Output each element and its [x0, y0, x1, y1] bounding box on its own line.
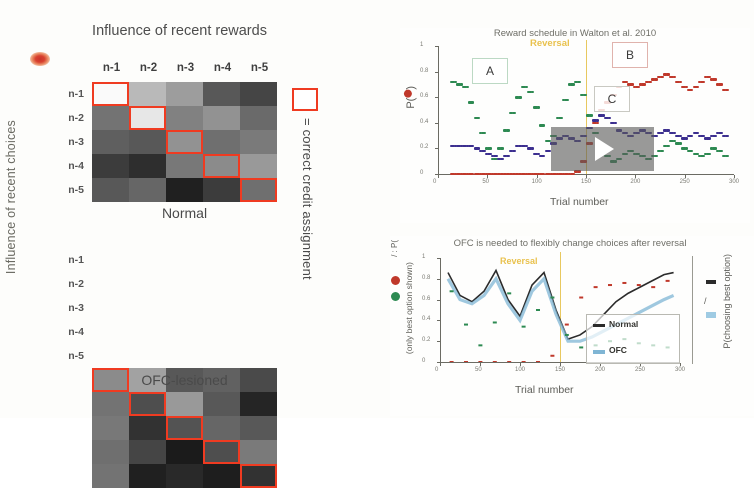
heatmap-highlight-box: [129, 106, 166, 130]
play-button[interactable]: [551, 127, 654, 171]
bottom-chart-left-ylabel-group: / : P( (only best option shown): [390, 256, 420, 366]
heatmap-highlight-box: [166, 416, 203, 440]
data-point: [643, 83, 646, 85]
heatmap-cell: [129, 82, 166, 106]
data-point: [637, 86, 640, 88]
data-point: [489, 147, 492, 149]
data-point: [714, 78, 717, 80]
data-point: [702, 155, 705, 157]
row-label-n4: n-4: [60, 320, 84, 344]
data-point: [466, 86, 469, 88]
heatmap-highlight-box: [240, 464, 277, 488]
red-dot-icon: [391, 276, 400, 285]
heatmap-cell: [203, 464, 240, 488]
row-label-n3: n-3: [60, 296, 84, 320]
data-point: [450, 290, 454, 292]
heatmap-highlight-box: [203, 440, 240, 464]
heatmap-cell: [203, 82, 240, 106]
y-tick-label: 0.6: [422, 296, 430, 302]
y-tick: [437, 362, 440, 363]
y-tick-label: 0.6: [420, 93, 428, 99]
heatmap-cell: [92, 416, 129, 440]
row-label-n3: n-3: [60, 130, 84, 154]
data-point: [666, 280, 670, 282]
data-point: [720, 83, 723, 85]
x-tick: [520, 363, 521, 366]
data-point: [493, 321, 497, 323]
heatmap-cell: [129, 440, 166, 464]
data-point: [478, 361, 482, 362]
col-header-n2: n-2: [130, 62, 167, 74]
heatmap-highlight-box: [129, 392, 166, 416]
data-point: [673, 76, 676, 78]
legend-swatch-normal: [593, 324, 605, 327]
data-point: [578, 81, 581, 83]
y-tick-label: 0: [422, 358, 425, 364]
data-point: [608, 284, 612, 286]
data-point: [483, 150, 486, 152]
bottom-chart-ylabel-formula: / : P(: [390, 240, 399, 257]
y-tick: [435, 123, 438, 124]
heatmap-cell: [240, 130, 277, 154]
data-point: [542, 155, 545, 157]
heatmap-cell: [166, 440, 203, 464]
data-point: [679, 81, 682, 83]
data-point: [708, 153, 711, 155]
data-point: [579, 346, 583, 348]
heatmap-cell: [240, 82, 277, 106]
y-tick-label: 0.2: [420, 144, 428, 150]
x-tick-label: 250: [680, 179, 690, 185]
heatmap-cell: [166, 82, 203, 106]
data-point: [464, 324, 468, 326]
data-point: [565, 334, 569, 336]
x-tick-label: 50: [482, 179, 489, 185]
y-tick: [435, 148, 438, 149]
data-point: [525, 86, 528, 88]
heatmap-cell: [240, 106, 277, 130]
data-point: [622, 282, 626, 284]
heatmap-cell: [129, 154, 166, 178]
heatmap-ofc-row-labels: n-1 n-2 n-3 n-4 n-5: [60, 248, 84, 368]
heatmap-cell: [92, 130, 129, 154]
heatmap-cell: [166, 106, 203, 130]
data-point: [590, 114, 593, 116]
y-axis: [438, 46, 439, 174]
top-chart-ylabel: P(): [404, 86, 417, 109]
heatmap-cell: [92, 106, 129, 130]
col-header-n3: n-3: [167, 62, 204, 74]
x-tick-label: 50: [475, 367, 482, 373]
data-point: [522, 326, 526, 328]
data-point: [483, 132, 486, 134]
data-point: [513, 150, 516, 152]
row-label-n2: n-2: [60, 272, 84, 296]
x-tick-label: 150: [581, 179, 591, 185]
y-tick: [435, 46, 438, 47]
data-point: [685, 137, 688, 139]
y-tick-label: 1: [422, 254, 425, 260]
y-tick: [435, 174, 438, 175]
bottom-chart-reversal-label: Reversal: [500, 256, 538, 266]
heatmap-cell: [129, 178, 166, 202]
heatmap-cell: [92, 440, 129, 464]
data-point: [565, 324, 569, 326]
heatmap-cell: [240, 154, 277, 178]
green-dot-icon: [391, 292, 400, 301]
data-point: [714, 135, 717, 137]
x-tick-label: 0: [435, 367, 438, 373]
x-tick-label: 200: [630, 179, 640, 185]
heatmap-cell: [166, 178, 203, 202]
data-point: [655, 135, 658, 137]
data-point: [536, 309, 540, 311]
bottom-right-chart-panel: OFC is needed to flexibly change choices…: [390, 236, 754, 416]
data-point: [519, 96, 522, 98]
top-chart-xlabel: Trial number: [550, 196, 609, 208]
bottom-chart-legend: Normal OFC: [586, 314, 680, 364]
data-point: [661, 132, 664, 134]
x-tick-label: 150: [555, 367, 565, 373]
data-point: [542, 124, 545, 126]
x-tick: [487, 175, 488, 178]
heatmap-x-axis-title: Influence of recent rewards: [72, 22, 287, 40]
data-point: [679, 142, 682, 144]
y-tick-label: 0.4: [420, 119, 428, 125]
annotation-box-a: A: [472, 58, 508, 84]
bottom-chart-xlabel: Trial number: [515, 384, 574, 396]
data-point: [493, 361, 497, 362]
data-point: [507, 361, 511, 362]
right-legend-separator: /: [704, 296, 707, 306]
x-tick: [537, 175, 538, 178]
legend-label-normal: Normal: [609, 319, 638, 329]
y-tick-label: 1: [420, 42, 423, 48]
heatmap-cell: [203, 106, 240, 130]
heatmap-highlight-box: [240, 178, 277, 202]
heatmap-cell: [203, 178, 240, 202]
heatmap-highlight-box: [203, 154, 240, 178]
data-point: [708, 137, 711, 139]
heatmap-cell: [166, 392, 203, 416]
play-icon: [595, 137, 614, 161]
annotation-box-c: C: [594, 86, 630, 112]
bottom-chart-ylabel-note: (only best option shown): [404, 262, 414, 354]
x-tick: [680, 363, 681, 366]
heatmap-ofc-caption: OFC-lesioned: [92, 372, 277, 388]
data-point: [464, 361, 468, 362]
left-y-axis-label: Influence of recent choices: [4, 120, 18, 274]
data-point: [522, 361, 526, 362]
bottom-chart-right-ylabel: P(choosing best option): [722, 254, 732, 349]
top-chart-title: Reward schedule in Walton et al. 2010: [400, 28, 750, 39]
heatmap-column-headers: n-1 n-2 n-3 n-4 n-5: [93, 62, 278, 74]
data-point: [594, 286, 598, 288]
data-point: [690, 89, 693, 91]
heatmap-cell: [92, 392, 129, 416]
legend-label-ofc: OFC: [609, 345, 627, 355]
data-point: [566, 99, 569, 101]
data-point: [726, 89, 729, 91]
heatmap-cell: [166, 154, 203, 178]
data-point: [661, 150, 664, 152]
data-point: [614, 122, 617, 124]
heatmap-cell: [240, 416, 277, 440]
data-point: [596, 122, 599, 124]
data-point: [702, 81, 705, 83]
y-tick-label: 0.4: [422, 316, 430, 322]
data-point: [531, 147, 534, 149]
row-label-n4: n-4: [60, 154, 84, 178]
data-point: [661, 76, 664, 78]
y-tick-label: 0.8: [420, 68, 428, 74]
row-label-n1: n-1: [60, 248, 84, 272]
heatmap-cell: [92, 154, 129, 178]
data-point: [478, 344, 482, 346]
heatmap-cell: [129, 130, 166, 154]
heatmap-cell: [166, 464, 203, 488]
red-dot-glow-icon: [30, 52, 50, 66]
top-right-chart-panel: Reward schedule in Walton et al. 2010 05…: [400, 28, 750, 223]
legend-correct-credit-assignment: = correct credit assignment: [300, 118, 315, 280]
x-tick: [480, 363, 481, 366]
annotation-box-b: B: [612, 42, 648, 68]
x-tick: [635, 175, 636, 178]
data-point: [501, 147, 504, 149]
x-tick-label: 200: [595, 367, 605, 373]
x-tick: [438, 175, 439, 178]
legend-swatch-ofc: [593, 350, 605, 354]
data-point: [507, 292, 511, 294]
legend-divider: [692, 256, 693, 364]
top-chart-reversal-label: Reversal: [530, 38, 570, 49]
row-label-n2: n-2: [60, 106, 84, 130]
data-point: [537, 106, 540, 108]
data-point: [685, 86, 688, 88]
heatmap-highlight-box: [166, 130, 203, 154]
heatmap-cell: [240, 392, 277, 416]
bottom-chart-right-legend-group: / P(choosing best option): [690, 256, 752, 376]
data-point: [507, 155, 510, 157]
y-tick-label: 0.8: [422, 275, 430, 281]
data-point: [637, 284, 641, 286]
x-tick-label: 250: [635, 367, 645, 373]
data-point: [471, 101, 474, 103]
heatmap-cell: [240, 440, 277, 464]
data-point: [649, 81, 652, 83]
data-point: [608, 117, 611, 119]
row-label-n1: n-1: [60, 82, 84, 106]
data-point: [655, 78, 658, 80]
data-point: [572, 173, 575, 175]
row-label-n5: n-5: [60, 178, 84, 202]
data-point: [651, 286, 655, 288]
heatmap-cell: [92, 464, 129, 488]
data-point: [531, 91, 534, 93]
row-label-n5: n-5: [60, 344, 84, 368]
heatmap-highlight-box: [92, 82, 129, 106]
data-point: [550, 355, 554, 357]
data-point: [690, 150, 693, 152]
data-point: [667, 145, 670, 147]
y-tick-label: 0.2: [422, 337, 430, 343]
data-point: [720, 150, 723, 152]
data-point: [579, 297, 583, 299]
heatmap-cell: [203, 392, 240, 416]
data-point: [726, 155, 729, 157]
data-point: [690, 135, 693, 137]
data-point: [450, 361, 454, 362]
heatmap-normal-row-labels: n-1 n-2 n-3 n-4 n-5: [60, 82, 84, 202]
x-tick-label: 0: [433, 179, 436, 185]
x-tick: [560, 363, 561, 366]
x-tick-label: 100: [515, 367, 525, 373]
top-chart-ylabel-text: P(: [405, 98, 417, 109]
x-tick: [586, 175, 587, 178]
right-legend-dark-swatch: [706, 280, 716, 284]
data-point: [696, 86, 699, 88]
x-tick-label: 300: [729, 179, 739, 185]
y-tick: [435, 72, 438, 73]
red-dot-icon: [404, 90, 412, 98]
col-header-n1: n-1: [93, 62, 130, 74]
legend-red-square-swatch: [292, 88, 318, 111]
data-point: [501, 158, 504, 160]
x-tick-label: 100: [532, 179, 542, 185]
col-header-n4: n-4: [204, 62, 241, 74]
heatmap-normal-caption: Normal: [92, 205, 277, 221]
data-point: [726, 135, 729, 137]
bottom-chart-title: OFC is needed to flexibly change choices…: [410, 238, 730, 249]
data-point: [572, 83, 575, 85]
data-point: [560, 117, 563, 119]
heatmap-cell: [129, 464, 166, 488]
x-tick: [440, 363, 441, 366]
data-point: [584, 94, 587, 96]
heatmap-cell: [203, 130, 240, 154]
col-header-n5: n-5: [241, 62, 278, 74]
data-point: [655, 155, 658, 157]
x-tick: [685, 175, 686, 178]
heatmap-cell: [129, 416, 166, 440]
heatmap-cell: [92, 178, 129, 202]
y-tick-label: 0: [420, 170, 423, 176]
x-tick: [734, 175, 735, 178]
data-point: [550, 297, 554, 299]
y-tick: [435, 97, 438, 98]
x-tick-label: 300: [675, 367, 685, 373]
heatmap-cell: [203, 416, 240, 440]
data-point: [477, 117, 480, 119]
data-point: [507, 129, 510, 131]
data-point: [513, 112, 516, 114]
data-point: [536, 361, 540, 362]
right-legend-blue-swatch: [706, 312, 716, 318]
slide-canvas: Influence of recent choices Influence of…: [0, 0, 754, 418]
